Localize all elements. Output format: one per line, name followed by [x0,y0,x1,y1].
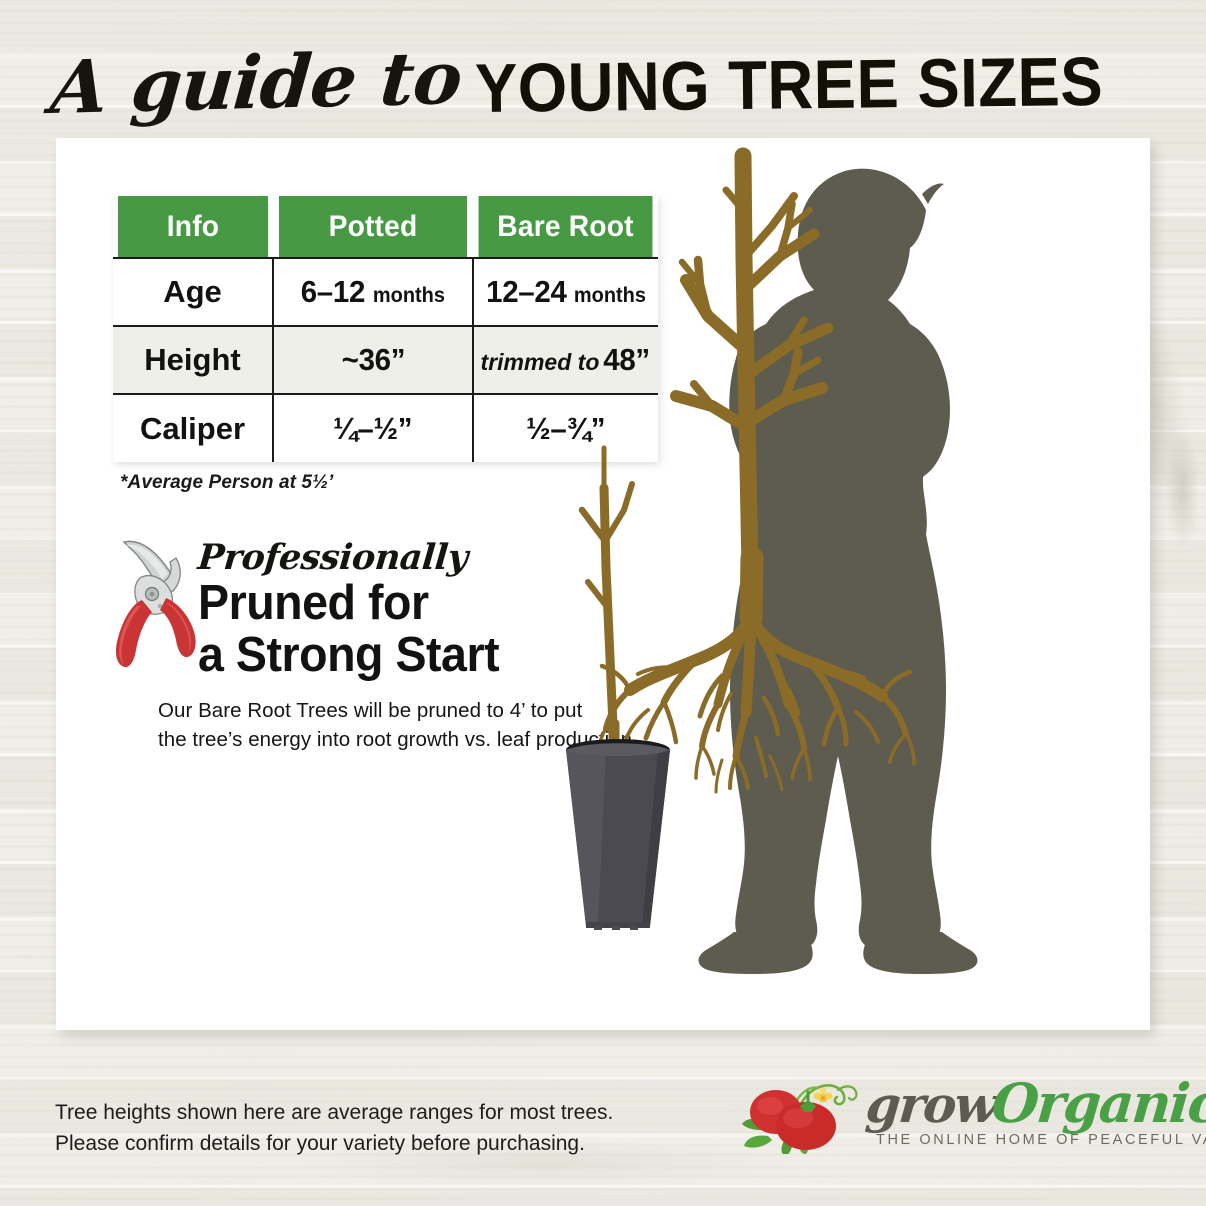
brand-tagline: THE ONLINE HOME OF PEACEFUL VALLEY [876,1132,1206,1148]
pruning-headline-row: Professionally Pruned for a Strong Start [106,536,576,684]
wood-grain-accent [1166,430,1200,550]
footer-disclaimer: Tree heights shown here are average rang… [55,1097,613,1159]
cell-value: 6–12 [301,274,365,310]
row-label-height: Height [113,326,273,394]
cell-value: ~36” [341,342,405,378]
brand-wordmark: growOrganic.COM [866,1076,1206,1130]
page-title: A guide to YOUNG TREE SIZES [0,44,1206,132]
footer-line-1: Tree heights shown here are average rang… [55,1097,613,1128]
cell-height-potted: ~36” [273,326,473,394]
brand-logo[interactable]: growOrganic.COM THE ONLINE HOME OF PEACE… [742,1074,1172,1170]
cell-unit: months [373,284,445,308]
row-label-caliper: Caliper [113,394,273,462]
cell-age-potted: 6–12months [273,258,473,326]
cell-value: ¼–½” [333,411,412,447]
brand-grow-text: grow [864,1080,998,1130]
content-card: Info Potted Bare Root Age 6–12months 12–… [56,138,1150,1030]
table-footnote: *Average Person at 5½’ [120,472,333,494]
pruning-bold-line-1: Pruned for [198,579,499,627]
pruning-shears-icon [112,536,198,677]
brand-organic-text: Organic [989,1076,1206,1130]
table-header-info: Info [118,196,268,258]
row-label-age: Age [113,258,273,326]
pruning-section: Professionally Pruned for a Strong Start… [106,536,576,684]
pruning-script-line: Professionally [196,540,469,575]
table-header-potted: Potted [279,196,467,258]
footer-line-2: Please confirm details for your variety … [55,1128,613,1159]
pruning-headline: Professionally Pruned for a Strong Start [198,540,515,679]
illustration-group [526,138,1150,1030]
page-title-block: YOUNG TREE SIZES [475,46,1104,122]
potted-whip-tree [566,448,670,930]
pruning-bold-line-2: a Strong Start [198,631,499,679]
cell-caliper-potted: ¼–½” [273,394,473,462]
tomato-vine-icon [742,1076,860,1159]
page-title-script: A guide to [48,41,482,124]
